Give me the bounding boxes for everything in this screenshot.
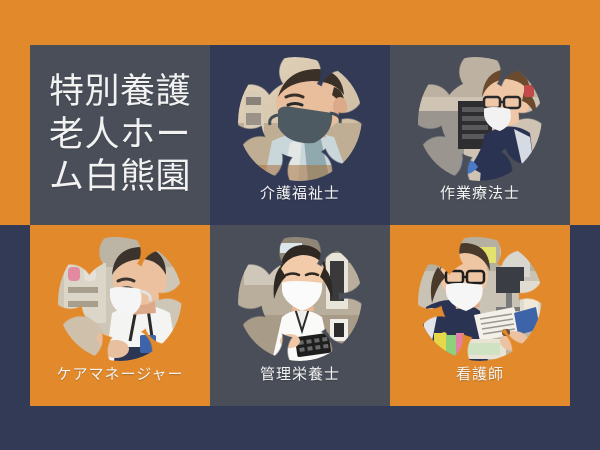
photo-care-manager bbox=[58, 237, 182, 361]
staff-grid: 特別養護 老人ホー ム白熊園 bbox=[30, 45, 570, 406]
grid-cell-care-manager[interactable]: ケアマネージャー bbox=[30, 225, 210, 406]
photo-frame-kaigo-fukushishi bbox=[238, 57, 362, 181]
grid-cell-kangoshi[interactable]: 看護師 bbox=[390, 225, 570, 406]
caption-sagyo-ryohoshi: 作業療法士 bbox=[440, 182, 520, 203]
page-title: 特別養護 老人ホー ム白熊園 bbox=[45, 71, 195, 199]
grid-cell-title: 特別養護 老人ホー ム白熊園 bbox=[30, 45, 210, 225]
grid-cell-kanri-eiyoshi[interactable]: 管理栄養士 bbox=[210, 225, 390, 406]
grid-cell-kaigo-fukushishi[interactable]: 介護福祉士 bbox=[210, 45, 390, 225]
caption-kanri-eiyoshi: 管理栄養士 bbox=[260, 363, 340, 384]
photo-sagyo-ryohoshi bbox=[418, 57, 542, 181]
photo-frame-kanri-eiyoshi bbox=[238, 237, 362, 361]
poster-canvas: 特別養護 老人ホー ム白熊園 bbox=[0, 0, 600, 450]
caption-kangoshi: 看護師 bbox=[456, 363, 504, 384]
caption-kaigo-fukushishi: 介護福祉士 bbox=[260, 182, 340, 203]
photo-kaigo-fukushishi bbox=[238, 57, 362, 181]
photo-frame-kangoshi bbox=[418, 237, 542, 361]
caption-care-manager: ケアマネージャー bbox=[57, 363, 184, 384]
photo-kanri-eiyoshi bbox=[238, 237, 362, 361]
photo-frame-care-manager bbox=[58, 237, 182, 361]
photo-kangoshi bbox=[418, 237, 542, 361]
grid-cell-sagyo-ryohoshi[interactable]: 作業療法士 bbox=[390, 45, 570, 225]
photo-frame-sagyo-ryohoshi bbox=[418, 57, 542, 181]
